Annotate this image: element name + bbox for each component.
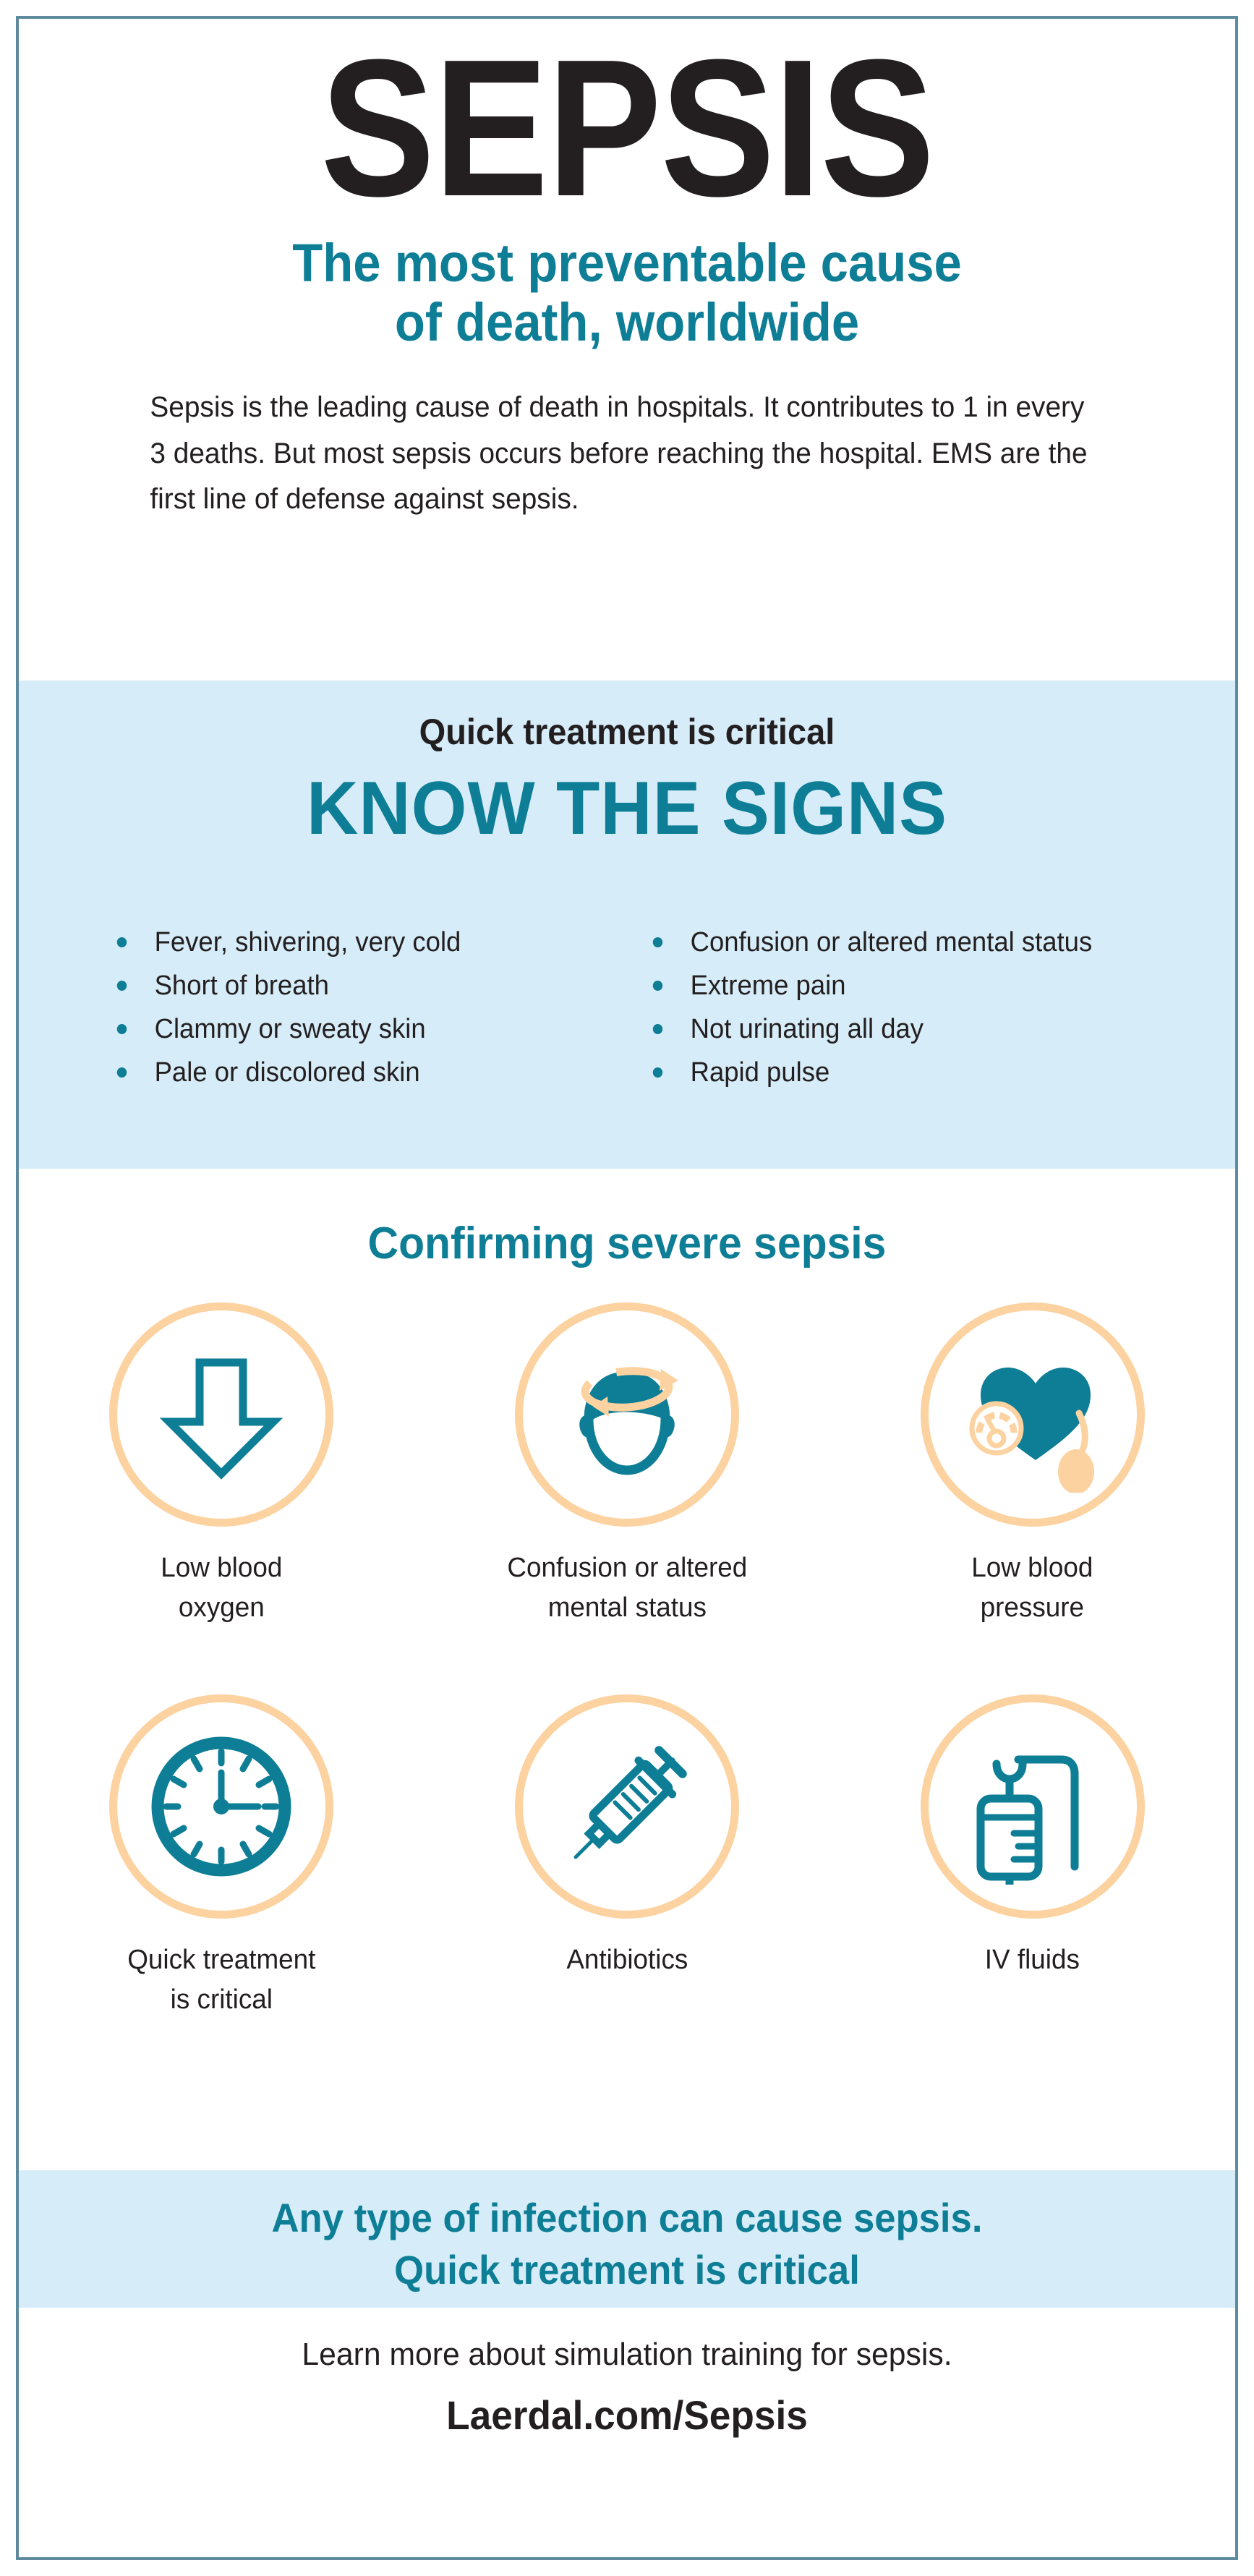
heart-bp-cuff-icon (955, 1337, 1110, 1493)
icon-label-line-2: oxygen (25, 1588, 418, 1628)
icon-label: Low blood oxygen (25, 1548, 418, 1628)
icon-row-2: Quick treatment is critical (19, 1694, 1235, 2020)
icon-label: Quick treatment is critical (25, 1940, 418, 2020)
bullet-dot-icon (653, 981, 662, 991)
signs-column-left: Fever, shivering, very cold Short of bre… (19, 929, 627, 1102)
bullet-dot-icon (117, 937, 127, 947)
icon-label-line-1: Low blood (836, 1548, 1229, 1588)
iv-drip-icon (955, 1729, 1110, 1885)
sign-label: Clammy or sweaty skin (155, 1014, 426, 1044)
icon-label: Antibiotics (430, 1940, 824, 1980)
poster-frame: SEPSIS The most preventable cause of dea… (16, 16, 1238, 2560)
sign-label: Short of breath (155, 971, 329, 1001)
sign-label: Confusion or altered mental status (691, 927, 1093, 958)
down-arrow-icon (149, 1342, 294, 1487)
icon-label: IV fluids (836, 1940, 1229, 1980)
icon-label-line-1: Quick treatment (25, 1940, 418, 1980)
icon-label-line-2: pressure (836, 1588, 1229, 1628)
signs-headline: KNOW THE SIGNS (49, 753, 1205, 852)
icon-circle (921, 1302, 1145, 1527)
signs-list-right: Confusion or altered mental status Extre… (649, 929, 1235, 1102)
icon-label-line-2: mental status (430, 1588, 824, 1628)
icon-label-line-2: is critical (25, 1980, 418, 2020)
icon-label: Low blood pressure (836, 1548, 1229, 1628)
icon-circle (109, 1694, 333, 1919)
bullet-dot-icon (653, 1024, 662, 1034)
icon-cell-antibiotics: Antibiotics (425, 1694, 830, 2020)
list-item: Rapid pulse (649, 1059, 1212, 1102)
footer-url[interactable]: Laerdal.com/Sepsis (49, 2392, 1205, 2439)
bullet-dot-icon (653, 937, 662, 947)
icon-label: Confusion or altered mental status (430, 1548, 824, 1628)
bullet-dot-icon (117, 1024, 127, 1034)
icon-circle (109, 1302, 333, 1527)
footer-section: Learn more about simulation training for… (19, 2337, 1235, 2439)
icon-circle (515, 1694, 739, 1919)
signs-kicker: Quick treatment is critical (55, 681, 1198, 753)
signs-column-right: Confusion or altered mental status Extre… (627, 929, 1235, 1102)
signs-columns: Fever, shivering, very cold Short of bre… (19, 929, 1235, 1169)
sign-label: Pale or discolored skin (155, 1057, 420, 1088)
icon-row-1: Low blood oxygen (19, 1302, 1235, 1628)
footer-text: Learn more about simulation training for… (37, 2337, 1217, 2373)
sign-label: Fever, shivering, very cold (155, 927, 461, 958)
icon-cell-low-blood-oxygen: Low blood oxygen (19, 1302, 425, 1628)
list-item: Clammy or sweaty skin (113, 1015, 607, 1059)
bullet-dot-icon (653, 1067, 662, 1078)
list-item: Short of breath (113, 972, 607, 1015)
icon-cell-low-blood-pressure: Low blood pressure (829, 1302, 1235, 1628)
hero-subtitle-line-1: The most preventable cause (88, 234, 1166, 294)
icon-label-line-1: Antibiotics (430, 1940, 824, 1980)
syringe-icon (549, 1729, 704, 1885)
bullet-dot-icon (117, 981, 127, 991)
hero-paragraph: Sepsis is the leading cause of death in … (150, 385, 1104, 522)
cta-line-1: Any type of infection can cause sepsis. (55, 2192, 1198, 2244)
icon-label-line-1: IV fluids (836, 1940, 1229, 1980)
sepsis-infographic-poster: SEPSIS The most preventable cause of dea… (0, 0, 1254, 2576)
bullet-dot-icon (117, 1067, 127, 1078)
list-item: Fever, shivering, very cold (113, 929, 607, 972)
icon-cell-iv-fluids: IV fluids (829, 1694, 1235, 2020)
confirm-section-heading: Confirming severe sepsis (49, 1218, 1205, 1269)
icon-circle (921, 1694, 1145, 1919)
icon-label-line-1: Confusion or altered (430, 1548, 824, 1588)
hero-subtitle-line-2: of death, worldwide (88, 293, 1166, 353)
sign-label: Extreme pain (691, 971, 846, 1001)
clock-icon (144, 1729, 299, 1885)
signs-list-left: Fever, shivering, very cold Short of bre… (113, 929, 627, 1102)
page-title: SEPSIS (117, 33, 1137, 225)
sign-label: Rapid pulse (691, 1057, 830, 1088)
cta-text: Any type of infection can cause sepsis. … (55, 2170, 1198, 2295)
icon-cell-confusion: Confusion or altered mental status (425, 1302, 830, 1628)
list-item: Not urinating all day (649, 1015, 1212, 1059)
list-item: Extreme pain (649, 972, 1212, 1015)
know-the-signs-band: Quick treatment is critical KNOW THE SIG… (19, 681, 1235, 930)
icon-label-line-1: Low blood (25, 1548, 418, 1588)
list-item: Pale or discolored skin (113, 1059, 607, 1102)
dizzy-head-icon (551, 1339, 703, 1490)
icon-cell-quick-treatment: Quick treatment is critical (19, 1694, 425, 2020)
list-item: Confusion or altered mental status (649, 929, 1212, 972)
cta-band: Any type of infection can cause sepsis. … (19, 2170, 1235, 2308)
confirm-icon-grid: Low blood oxygen (19, 1302, 1235, 2020)
sign-label: Not urinating all day (691, 1014, 924, 1044)
hero-subtitle: The most preventable cause of death, wor… (88, 234, 1166, 354)
icon-row-spacer (19, 1628, 1235, 1694)
icon-circle (515, 1302, 739, 1527)
hero-section: SEPSIS The most preventable cause of dea… (19, 19, 1235, 522)
cta-line-2: Quick treatment is critical (55, 2244, 1198, 2296)
